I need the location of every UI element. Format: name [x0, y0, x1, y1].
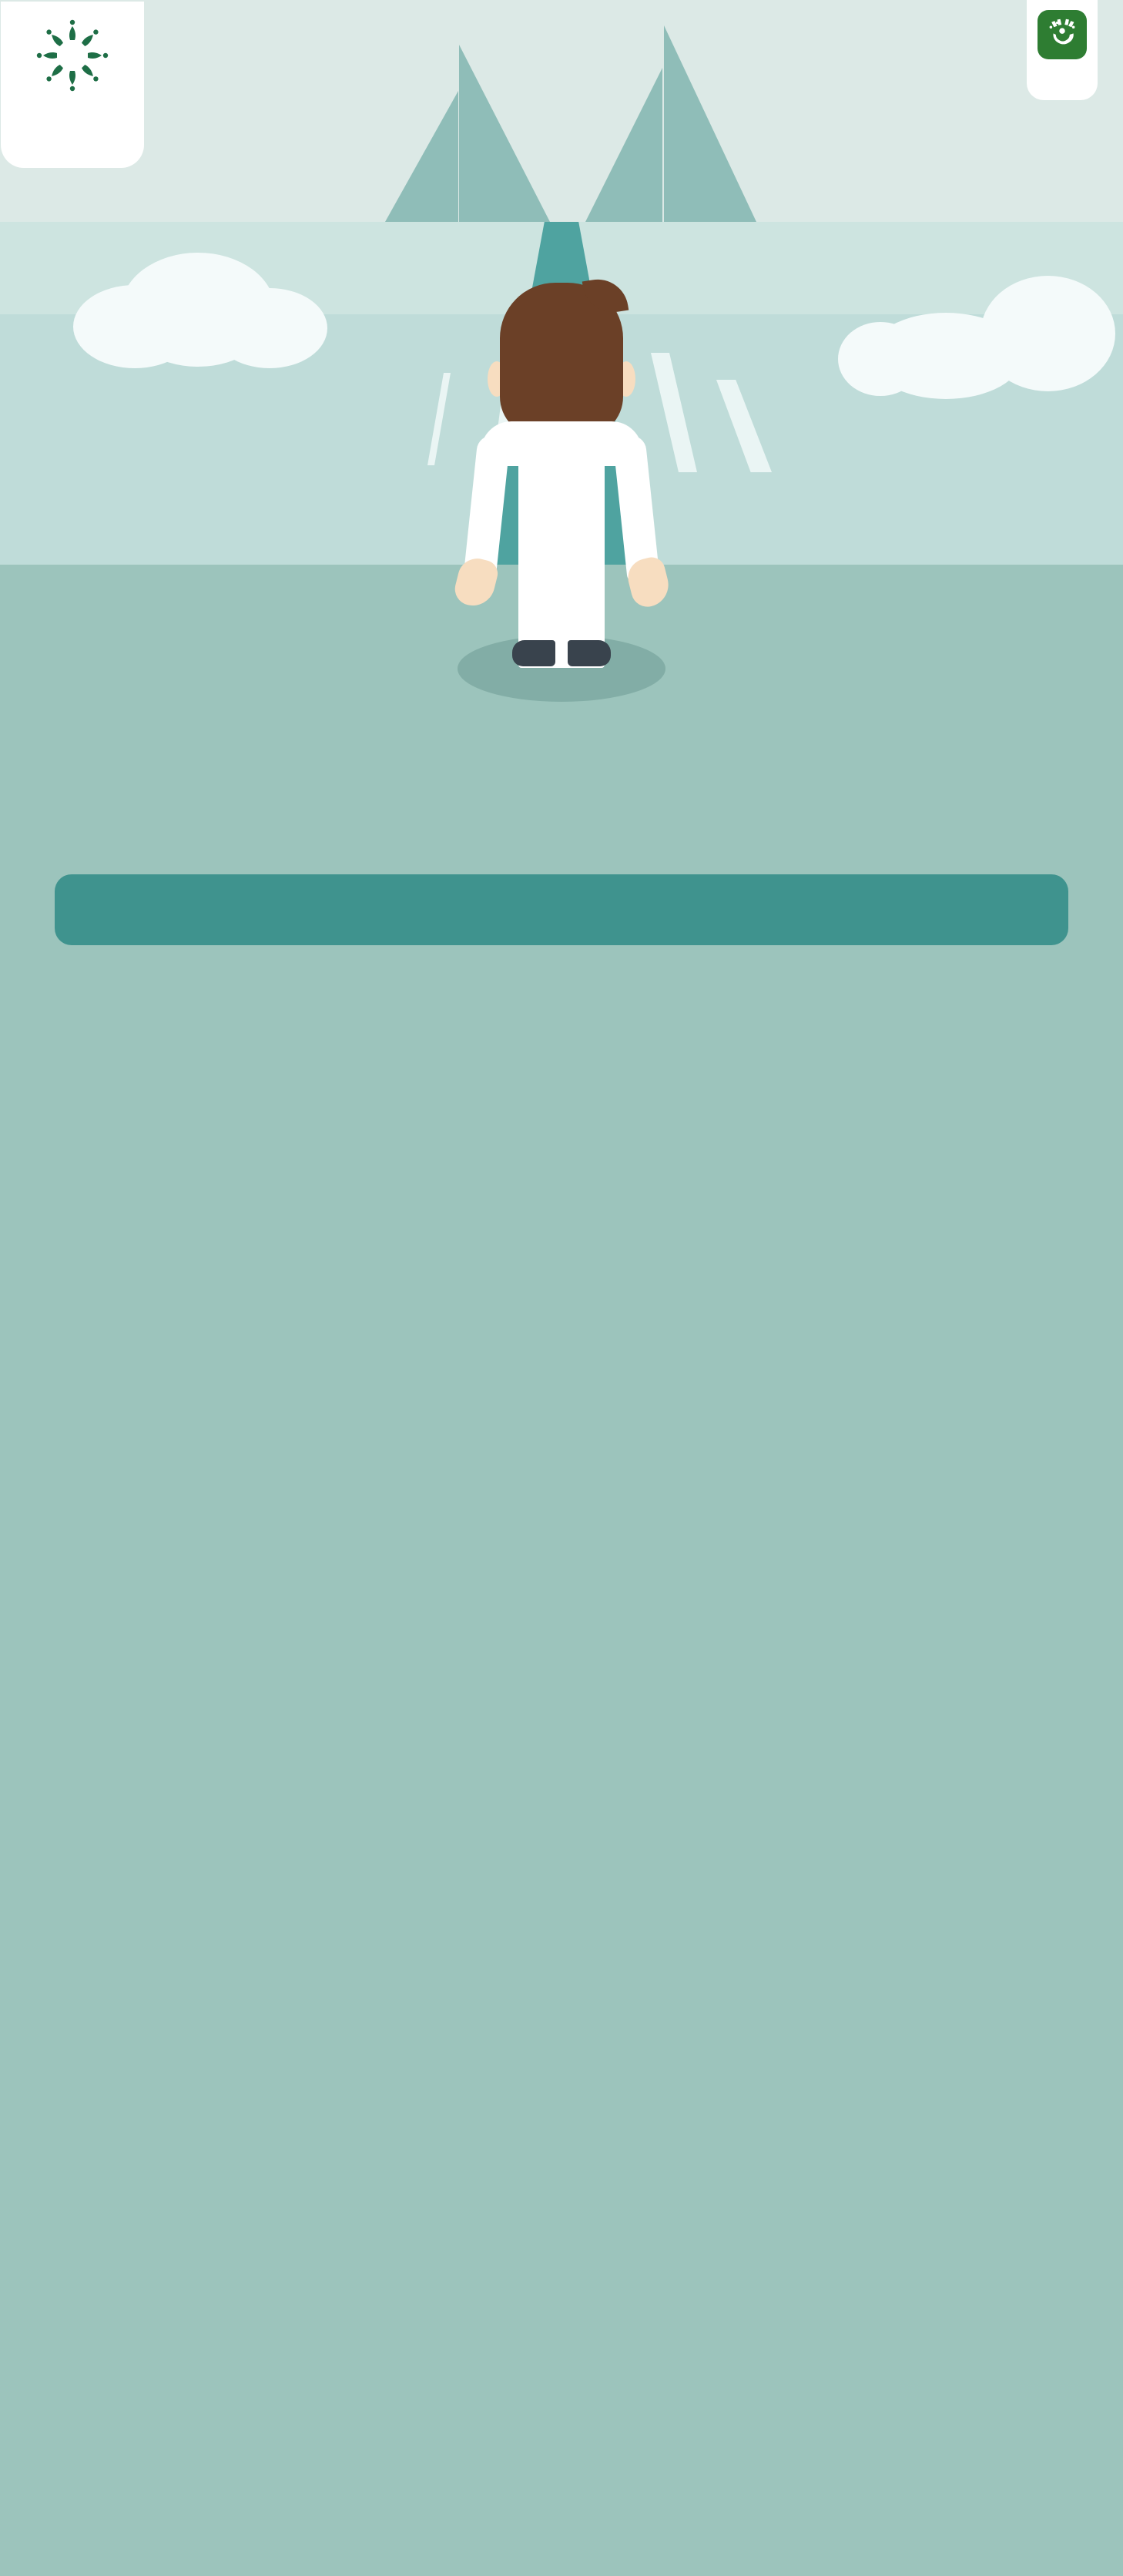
committee-emblem-icon [34, 17, 111, 94]
person-shoe-right [568, 640, 611, 666]
qareboon-logo-tile [1038, 10, 1087, 59]
intro-card [55, 874, 1068, 945]
person-shoe-left [512, 640, 555, 666]
header-triangle-2 [459, 45, 550, 222]
header-triangle-1 [385, 91, 458, 222]
cloud-right-icon [861, 276, 1115, 399]
qareboon-smile-icon [1042, 15, 1082, 55]
cloud-left-icon [73, 253, 327, 368]
header-triangle-3 [585, 68, 662, 222]
stress-ray-5 [716, 380, 772, 472]
page-header [0, 0, 1123, 222]
hero-illustration [0, 222, 1123, 742]
national-committee-logo [1, 2, 144, 168]
header-triangle-4 [664, 25, 756, 222]
qareboon-app-badge[interactable] [1027, 0, 1098, 100]
infographic-page [0, 0, 1123, 2576]
person-thobe [518, 423, 605, 668]
person-hair [500, 283, 623, 437]
page-title [214, 8, 1007, 18]
